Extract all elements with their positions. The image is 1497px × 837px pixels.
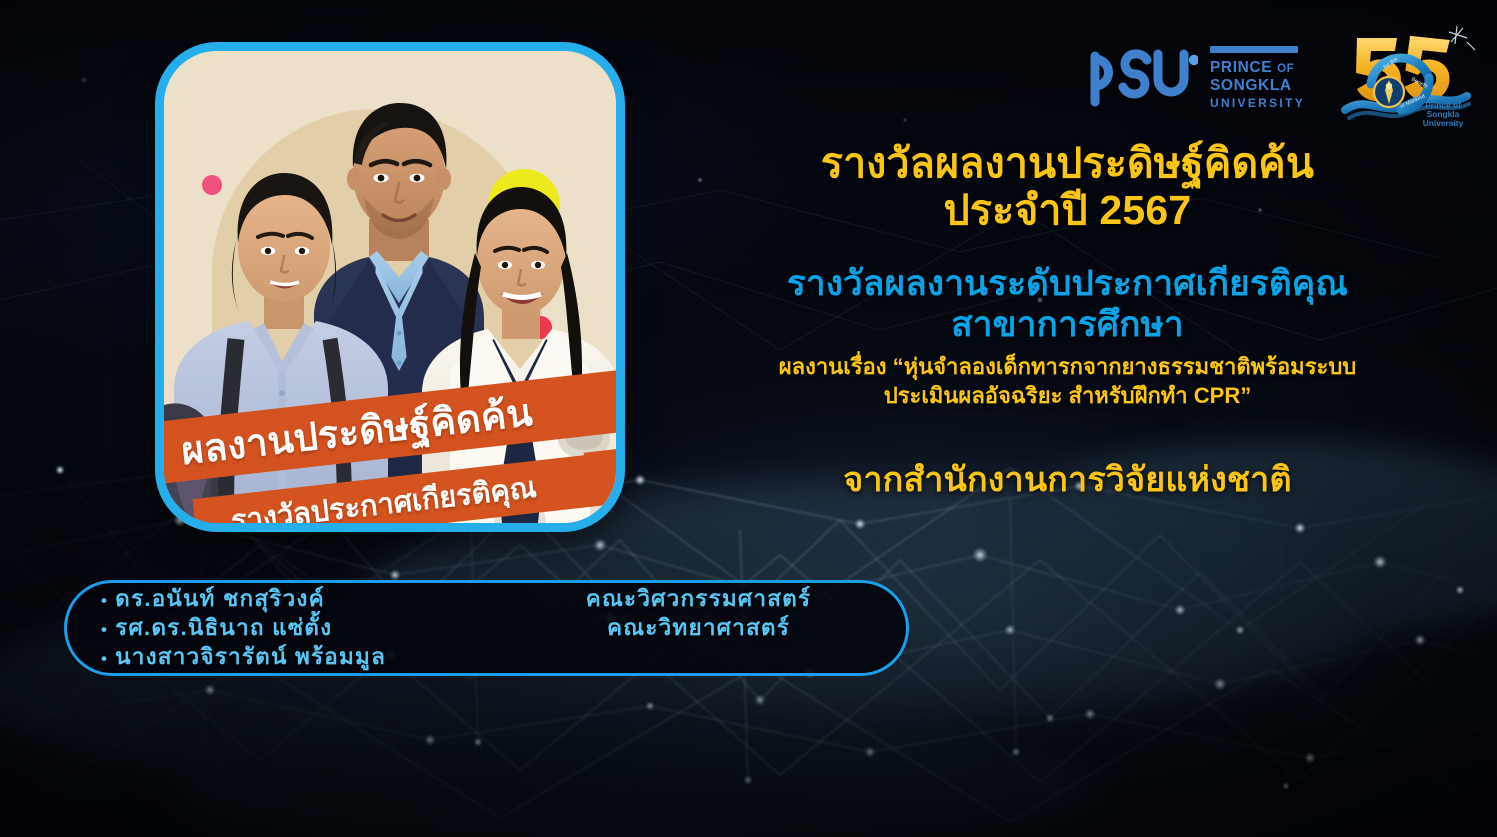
subtitle: รางวัลผลงานระดับประกาศเกียรติคุณ สาขาการ…	[645, 264, 1490, 345]
headline-line-2: ประจำปี 2567	[645, 187, 1490, 234]
recipient-name: รศ.ดร.นิธินาถ แซ่ตั้ง	[115, 614, 332, 642]
subtitle-line-2: สาขาการศึกษา	[645, 305, 1490, 346]
bullet-icon: •	[101, 650, 108, 667]
bullet-icon: •	[101, 621, 108, 638]
recipient-faculty	[521, 643, 876, 671]
work-title-line-1: ผลงานเรื่อง “หุ่นจำลองเด็กทารกจากยางธรรม…	[645, 353, 1490, 381]
recipient-name: นางสาวจิรารัตน์ พร้อมมูล	[115, 643, 386, 671]
award-photo-card: ผลงานประดิษฐ์คิดค้น รางวัลประกาศเกียรติค…	[155, 42, 625, 532]
recipient-faculty: คณะวิทยาศาสตร์	[521, 614, 876, 642]
recipients-grid: • ดร.อนันท์ ชกสุริวงค์ คณะวิศวกรรมศาสตร์…	[101, 585, 876, 671]
psu-line-1: PRINCE OF	[1210, 60, 1305, 76]
recipients-box: • ดร.อนันท์ ชกสุริวงค์ คณะวิศวกรรมศาสตร์…	[64, 580, 909, 676]
psu-logo-icon	[1086, 46, 1198, 108]
work-title: ผลงานเรื่อง “หุ่นจำลองเด็กทารกจากยางธรรม…	[645, 353, 1490, 409]
recipient-name: ดร.อนันท์ ชกสุริวงค์	[115, 585, 325, 613]
psu-wordmark: PRINCE OF SONGKLA UNIVERSITY	[1210, 44, 1305, 110]
headline-column: รางวัลผลงานประดิษฐ์คิดค้น ประจำปี 2567 ร…	[645, 140, 1490, 506]
recipient-name-row: • รศ.ดร.นิธินาถ แซ่ตั้ง	[101, 614, 521, 642]
psu-line-2: SONGKLA	[1210, 78, 1305, 94]
headline-line-1: รางวัลผลงานประดิษฐ์คิดค้น	[645, 140, 1490, 187]
psu-rule	[1210, 46, 1298, 53]
svg-text:University: University	[1423, 118, 1464, 128]
logo-row: PRINCE OF SONGKLA UNIVERSITY	[1086, 22, 1481, 132]
recipient-name-row: • ดร.อนันท์ ชกสุริวงค์	[101, 585, 521, 613]
anniversary-logo: for the Benefit of Mankind Prince of Son…	[1339, 22, 1481, 132]
psu-line-3: UNIVERSITY	[1210, 97, 1305, 110]
awarded-by: จากสำนักงานการวิจัยแห่งชาติ	[645, 452, 1490, 506]
recipient-name-row: • นางสาวจิรารัตน์ พร้อมมูล	[101, 643, 521, 671]
bullet-icon: •	[101, 592, 108, 609]
psu-55th-anniversary-logo-icon: for the Benefit of Mankind Prince of Son…	[1339, 22, 1481, 132]
recipient-faculty: คณะวิศวกรรมศาสตร์	[521, 585, 876, 613]
psu-logo: PRINCE OF SONGKLA UNIVERSITY	[1086, 44, 1305, 110]
work-title-line-2: ประเมินผลอัจฉริยะ สำหรับฝึกทำ CPR”	[645, 382, 1490, 410]
subtitle-line-1: รางวัลผลงานระดับประกาศเกียรติคุณ	[645, 264, 1490, 305]
award-poster: PRINCE OF SONGKLA UNIVERSITY	[0, 0, 1497, 837]
headline: รางวัลผลงานประดิษฐ์คิดค้น ประจำปี 2567	[645, 140, 1490, 234]
